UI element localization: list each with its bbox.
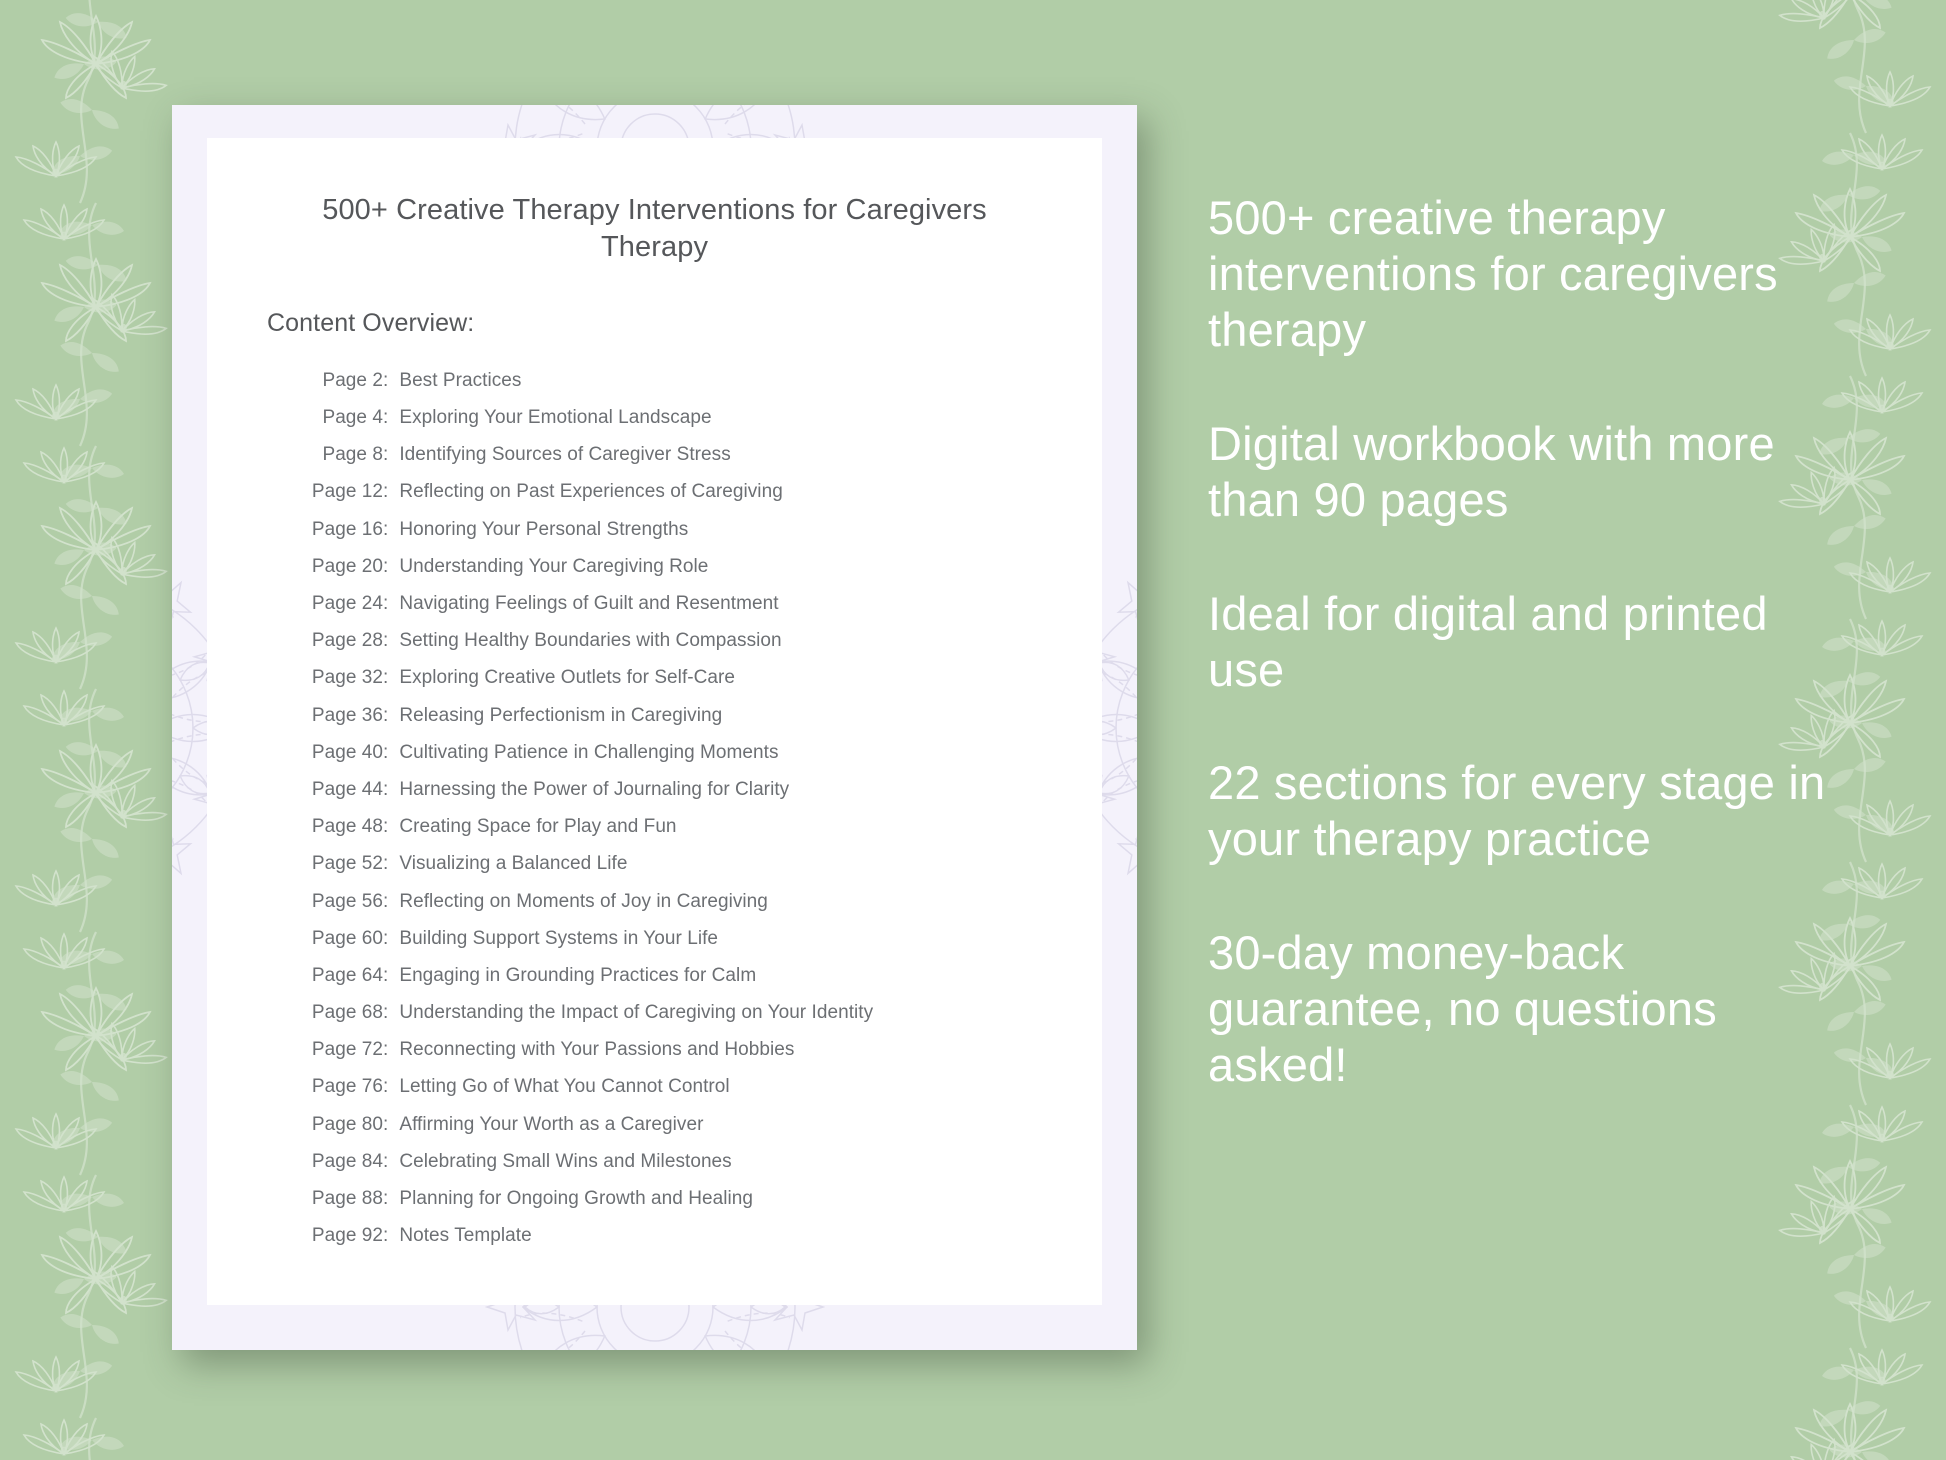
promo-block: Digital workbook with more than 90 pages bbox=[1208, 416, 1828, 528]
promo-block: 30-day money-back guarantee, no question… bbox=[1208, 925, 1828, 1093]
toc-entry-separator: : bbox=[383, 892, 399, 911]
page-title: 500+ Creative Therapy Interventions for … bbox=[207, 138, 1102, 267]
toc-entry-title: Releasing Perfectionism in Caregiving bbox=[399, 706, 722, 725]
toc-entry-page: Page 16 bbox=[297, 520, 383, 539]
toc-entry-page: Page 68 bbox=[297, 1003, 383, 1022]
toc-entry-separator: : bbox=[383, 668, 399, 687]
toc-entry-separator: : bbox=[383, 371, 399, 390]
toc-entry-page: Page 92 bbox=[297, 1226, 383, 1245]
toc-entry-title: Reflecting on Past Experiences of Caregi… bbox=[399, 482, 782, 501]
toc-entry-page: Page 40 bbox=[297, 743, 383, 762]
toc-entry-title: Identifying Sources of Caregiver Stress bbox=[399, 445, 730, 464]
toc-entry-title: Notes Template bbox=[399, 1226, 531, 1245]
toc-entry-title: Creating Space for Play and Fun bbox=[399, 817, 676, 836]
toc-entry-separator: : bbox=[383, 1115, 399, 1134]
toc-entry-title: Visualizing a Balanced Life bbox=[399, 854, 627, 873]
toc-entry-page: Page 44 bbox=[297, 780, 383, 799]
toc-entry-separator: : bbox=[383, 631, 399, 650]
toc-entry-separator: : bbox=[383, 594, 399, 613]
toc-entry-page: Page 32 bbox=[297, 668, 383, 687]
toc-entry-title: Honoring Your Personal Strengths bbox=[399, 520, 688, 539]
toc-entry: Page 88:Planning for Ongoing Growth and … bbox=[297, 1180, 1102, 1217]
toc-entry: Page 76:Letting Go of What You Cannot Co… bbox=[297, 1068, 1102, 1105]
toc-entry-separator: : bbox=[383, 482, 399, 501]
toc-entry-title: Letting Go of What You Cannot Control bbox=[399, 1077, 729, 1096]
table-of-contents: Page 2:Best PracticesPage 4:Exploring Yo… bbox=[207, 338, 1102, 1255]
toc-entry-title: Engaging in Grounding Practices for Calm bbox=[399, 966, 756, 985]
toc-entry-title: Exploring Your Emotional Landscape bbox=[399, 408, 711, 427]
toc-entry-page: Page 24 bbox=[297, 594, 383, 613]
toc-entry-page: Page 36 bbox=[297, 706, 383, 725]
toc-entry-title: Building Support Systems in Your Life bbox=[399, 929, 718, 948]
toc-entry: Page 36:Releasing Perfectionism in Careg… bbox=[297, 697, 1102, 734]
toc-entry-separator: : bbox=[383, 929, 399, 948]
toc-entry-title: Setting Healthy Boundaries with Compassi… bbox=[399, 631, 781, 650]
toc-entry-title: Exploring Creative Outlets for Self-Care bbox=[399, 668, 735, 687]
toc-entry: Page 32:Exploring Creative Outlets for S… bbox=[297, 659, 1102, 696]
toc-entry-separator: : bbox=[383, 854, 399, 873]
promo-column: 500+ creative therapy interventions for … bbox=[1208, 190, 1828, 1093]
content-overview-label: Content Overview: bbox=[207, 267, 1102, 338]
toc-entry-page: Page 4 bbox=[297, 408, 383, 427]
toc-entry-page: Page 52 bbox=[297, 854, 383, 873]
toc-entry-separator: : bbox=[383, 557, 399, 576]
toc-entry-page: Page 64 bbox=[297, 966, 383, 985]
toc-entry: Page 92:Notes Template bbox=[297, 1217, 1102, 1254]
toc-entry: Page 4:Exploring Your Emotional Landscap… bbox=[297, 399, 1102, 436]
workbook-card-frame: 500+ Creative Therapy Interventions for … bbox=[172, 105, 1137, 1350]
toc-entry: Page 8:Identifying Sources of Caregiver … bbox=[297, 436, 1102, 473]
toc-entry: Page 60:Building Support Systems in Your… bbox=[297, 920, 1102, 957]
toc-entry: Page 16:Honoring Your Personal Strengths bbox=[297, 511, 1102, 548]
toc-entry: Page 2:Best Practices bbox=[297, 362, 1102, 399]
toc-entry-separator: : bbox=[383, 445, 399, 464]
toc-entry: Page 56:Reflecting on Moments of Joy in … bbox=[297, 882, 1102, 919]
toc-entry-page: Page 76 bbox=[297, 1077, 383, 1096]
toc-entry: Page 64:Engaging in Grounding Practices … bbox=[297, 957, 1102, 994]
toc-entry-separator: : bbox=[383, 1003, 399, 1022]
toc-entry-title: Celebrating Small Wins and Milestones bbox=[399, 1152, 731, 1171]
toc-entry-title: Understanding the Impact of Caregiving o… bbox=[399, 1003, 873, 1022]
toc-entry-separator: : bbox=[383, 1226, 399, 1245]
toc-entry-page: Page 84 bbox=[297, 1152, 383, 1171]
toc-entry: Page 80:Affirming Your Worth as a Caregi… bbox=[297, 1106, 1102, 1143]
floral-border-left bbox=[0, 0, 190, 1460]
toc-entry-page: Page 8 bbox=[297, 445, 383, 464]
toc-entry-page: Page 28 bbox=[297, 631, 383, 650]
toc-entry-title: Best Practices bbox=[399, 371, 521, 390]
promo-block: 500+ creative therapy interventions for … bbox=[1208, 190, 1828, 358]
toc-entry-title: Understanding Your Caregiving Role bbox=[399, 557, 708, 576]
toc-entry-separator: : bbox=[383, 1077, 399, 1096]
toc-entry: Page 68:Understanding the Impact of Care… bbox=[297, 994, 1102, 1031]
toc-entry-separator: : bbox=[383, 780, 399, 799]
toc-entry: Page 20:Understanding Your Caregiving Ro… bbox=[297, 548, 1102, 585]
promo-block: Ideal for digital and printed use bbox=[1208, 586, 1828, 698]
toc-entry-separator: : bbox=[383, 408, 399, 427]
toc-entry-page: Page 56 bbox=[297, 892, 383, 911]
toc-entry-title: Planning for Ongoing Growth and Healing bbox=[399, 1189, 753, 1208]
toc-entry-separator: : bbox=[383, 706, 399, 725]
toc-entry-separator: : bbox=[383, 1189, 399, 1208]
toc-entry: Page 28:Setting Healthy Boundaries with … bbox=[297, 622, 1102, 659]
toc-entry: Page 72:Reconnecting with Your Passions … bbox=[297, 1031, 1102, 1068]
toc-entry-separator: : bbox=[383, 520, 399, 539]
toc-entry: Page 52:Visualizing a Balanced Life bbox=[297, 845, 1102, 882]
toc-entry-page: Page 80 bbox=[297, 1115, 383, 1134]
workbook-card: 500+ Creative Therapy Interventions for … bbox=[172, 105, 1137, 1350]
toc-entry-title: Reflecting on Moments of Joy in Caregivi… bbox=[399, 892, 768, 911]
toc-entry-page: Page 72 bbox=[297, 1040, 383, 1059]
toc-entry-page: Page 12 bbox=[297, 482, 383, 501]
toc-entry-page: Page 2 bbox=[297, 371, 383, 390]
toc-entry: Page 40:Cultivating Patience in Challeng… bbox=[297, 734, 1102, 771]
toc-entry-separator: : bbox=[383, 1040, 399, 1059]
toc-entry-page: Page 88 bbox=[297, 1189, 383, 1208]
promo-block: 22 sections for every stage in your ther… bbox=[1208, 755, 1828, 867]
toc-entry-title: Affirming Your Worth as a Caregiver bbox=[399, 1115, 703, 1134]
toc-entry: Page 24:Navigating Feelings of Guilt and… bbox=[297, 585, 1102, 622]
toc-entry: Page 48:Creating Space for Play and Fun bbox=[297, 808, 1102, 845]
toc-entry-separator: : bbox=[383, 817, 399, 836]
toc-entry-separator: : bbox=[383, 966, 399, 985]
toc-entry: Page 12:Reflecting on Past Experiences o… bbox=[297, 473, 1102, 510]
toc-entry-title: Navigating Feelings of Guilt and Resentm… bbox=[399, 594, 778, 613]
toc-entry: Page 84:Celebrating Small Wins and Miles… bbox=[297, 1143, 1102, 1180]
toc-entry-title: Cultivating Patience in Challenging Mome… bbox=[399, 743, 778, 762]
toc-entry-title: Reconnecting with Your Passions and Hobb… bbox=[399, 1040, 794, 1059]
workbook-page: 500+ Creative Therapy Interventions for … bbox=[207, 138, 1102, 1305]
toc-entry-page: Page 20 bbox=[297, 557, 383, 576]
toc-entry-separator: : bbox=[383, 743, 399, 762]
toc-entry-separator: : bbox=[383, 1152, 399, 1171]
toc-entry-title: Harnessing the Power of Journaling for C… bbox=[399, 780, 789, 799]
toc-entry: Page 44:Harnessing the Power of Journali… bbox=[297, 771, 1102, 808]
toc-entry-page: Page 60 bbox=[297, 929, 383, 948]
toc-entry-page: Page 48 bbox=[297, 817, 383, 836]
